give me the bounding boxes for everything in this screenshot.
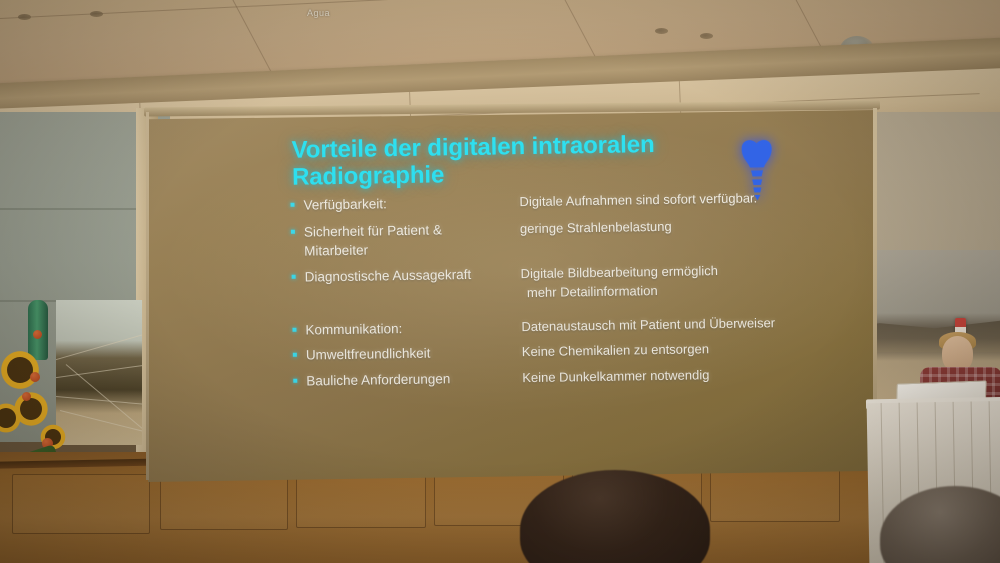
bullet-marker-icon [293,379,297,383]
slide-row: Sicherheit für Patient & Mitarbeiter ger… [290,213,866,260]
bullet-label-line2: Mitarbeiter [304,238,512,260]
slide-row: Kommunikation: Datenaustausch mit Patien… [291,312,866,341]
bullet-label: Bauliche Anforderungen [306,368,514,390]
bullet-description: Digitale Bildbearbeitung ermöglich mehr … [512,259,866,304]
slide-content: Vorteile der digitalen intraoralen Radio… [148,99,882,482]
slide-row: Umweltfreundlichkeit Keine Chemikalien z… [292,337,867,366]
bullet-description-line1: Digitale Bildbearbeitung ermöglich [520,263,717,281]
bullet-marker-icon [293,353,297,357]
bullet-marker-icon [292,275,296,279]
slide-bullet-rows: Verfügbarkeit: Digitale Aufnahmen sind s… [289,187,867,393]
slide-title: Vorteile der digitalen intraoralen Radio… [291,131,712,191]
bullet-description: Keine Chemikalien zu entsorgen [514,337,867,362]
bullet-marker-icon [292,328,296,332]
bullet-description: Digitale Aufnahmen sind sofort verfügbar… [511,187,864,212]
bullet-marker-icon [290,203,294,207]
slide-row: Verfügbarkeit: Digitale Aufnahmen sind s… [289,187,864,216]
slide-row: Bauliche Anforderungen Keine Dunkelkamme… [292,363,867,392]
slide-row: Diagnostische Aussagekraft Digitale Bild… [290,259,866,307]
presentation-photo-scene: Agua [0,0,1000,563]
bullet-label: Verfügbarkeit: [303,192,511,214]
bullet-description: Keine Dunkelkammer notwendig [514,363,867,388]
bullet-description: Datenaustausch mit Patient und Überweise… [513,312,866,337]
bullet-description: geringe Strahlenbelastung [512,213,866,257]
bullet-marker-icon [291,229,295,233]
ceiling-sign-label: Agua [307,8,330,18]
bullet-description-line2: mehr Detailinformation [521,278,866,303]
bullet-label: Diagnostische Aussagekraft [304,264,512,286]
bullet-label: Kommunikation: [305,317,513,339]
bullet-label: Umweltfreundlichkeit [306,343,514,365]
